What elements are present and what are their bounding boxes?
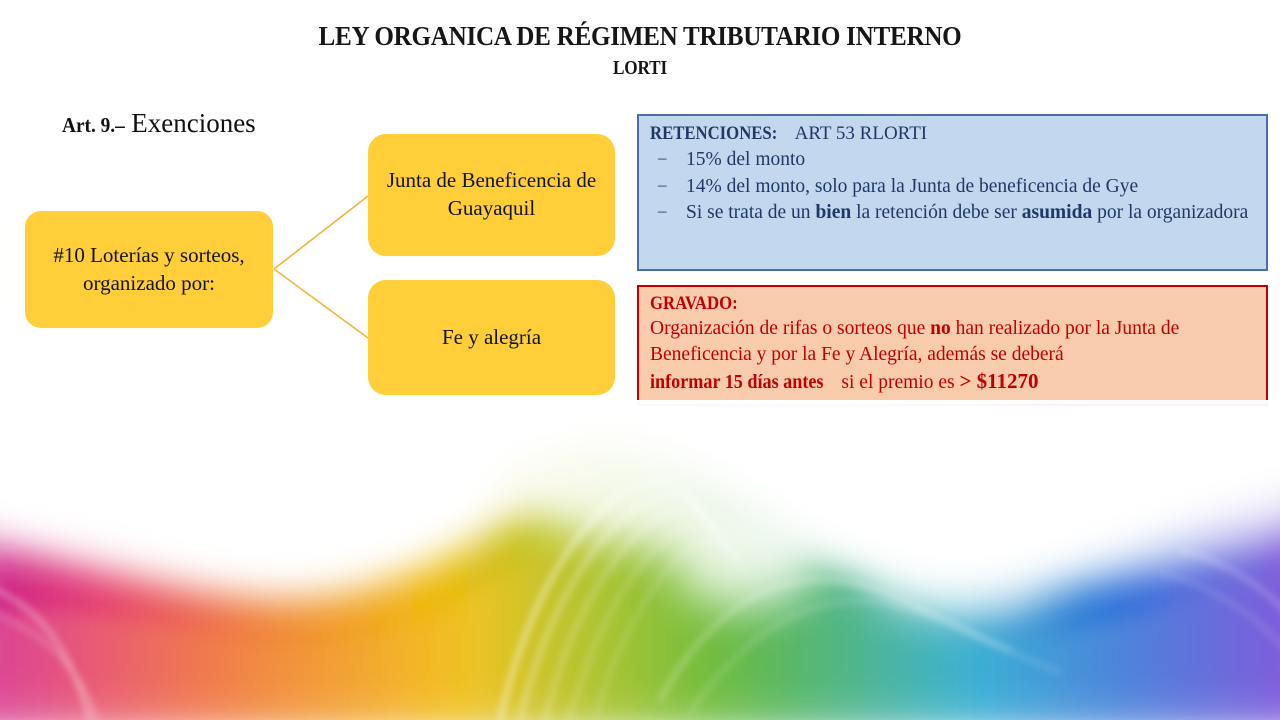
retenciones-bullet-list: – 15% del monto – 14% del monto, solo pa…	[650, 147, 1256, 227]
retenciones-item-3-pre: Si se trata de un	[686, 202, 815, 223]
retenciones-item-3-mid: la retención debe ser	[851, 202, 1022, 223]
article-number: Art. 9.–	[62, 113, 125, 138]
retenciones-item-3-bold-bien: bien	[815, 202, 851, 223]
gravado-line2-mid: si el premio es	[837, 372, 960, 393]
retenciones-item-2-text: 14% del monto, solo para la Junta de ben…	[686, 176, 1138, 197]
gravado-body-line-2: informar 15 días antes si el premio es >…	[650, 368, 1256, 396]
connector-to-junta	[274, 196, 368, 269]
retenciones-heading: RETENCIONES:ART 53 RLORTI	[650, 122, 1256, 146]
gravado-line2-bold-plazo: informar 15 días antes	[650, 370, 823, 396]
connector-to-fe	[274, 269, 368, 338]
rainbow-wave-decoration	[0, 400, 1280, 720]
retenciones-panel: RETENCIONES:ART 53 RLORTI – 15% del mont…	[637, 114, 1268, 271]
source-node-label: #10 Loterías y sorteos, organizado por:	[25, 242, 273, 297]
retenciones-heading-rest: ART 53 RLORTI	[795, 123, 927, 144]
gravado-line1-pre: Organización de rifas o sorteos que	[650, 318, 930, 339]
retenciones-item-2: – 14% del monto, solo para la Junta de b…	[650, 174, 1256, 201]
title-block: LEY ORGANICA DE RÉGIMEN TRIBUTARIO INTER…	[0, 22, 1280, 80]
article-keyword: Exenciones	[131, 108, 255, 138]
page-subtitle: LORTI	[90, 57, 1191, 80]
gravado-threshold-amount: > $11270	[959, 369, 1038, 393]
source-node-box[interactable]: #10 Loterías y sorteos, organizado por:	[25, 211, 273, 328]
target-node-junta-box[interactable]: Junta de Beneficencia de Guayaquil	[368, 134, 615, 256]
bullet-dash-icon: –	[658, 199, 667, 222]
retenciones-item-1: – 15% del monto	[650, 147, 1256, 174]
gravado-line1-bold-no: no	[930, 318, 951, 339]
page-title: LEY ORGANICA DE RÉGIMEN TRIBUTARIO INTER…	[45, 22, 1235, 52]
retenciones-item-1-text: 15% del monto	[686, 149, 805, 170]
bullet-dash-icon: –	[658, 173, 667, 196]
gravado-heading: GRAVADO:	[650, 292, 1256, 316]
target-node-fe-box[interactable]: Fe y alegría	[368, 280, 615, 395]
retenciones-item-3-post: por la organizadora	[1092, 202, 1248, 223]
retenciones-item-3: – Si se trata de un bien la retención de…	[650, 200, 1256, 227]
target-node-fe-label: Fe y alegría	[430, 324, 553, 352]
bullet-dash-icon: –	[658, 146, 667, 169]
gravado-body-line-1: Organización de rifas o sorteos que no h…	[650, 316, 1256, 368]
retenciones-heading-label: RETENCIONES:	[650, 122, 777, 146]
article-heading: Art. 9.–Exenciones	[62, 108, 256, 139]
gravado-panel: GRAVADO: Organización de rifas o sorteos…	[637, 285, 1268, 406]
target-node-junta-label: Junta de Beneficencia de Guayaquil	[368, 167, 615, 222]
gravado-heading-label: GRAVADO:	[650, 292, 738, 316]
retenciones-item-3-bold-asumida: asumida	[1022, 202, 1092, 223]
